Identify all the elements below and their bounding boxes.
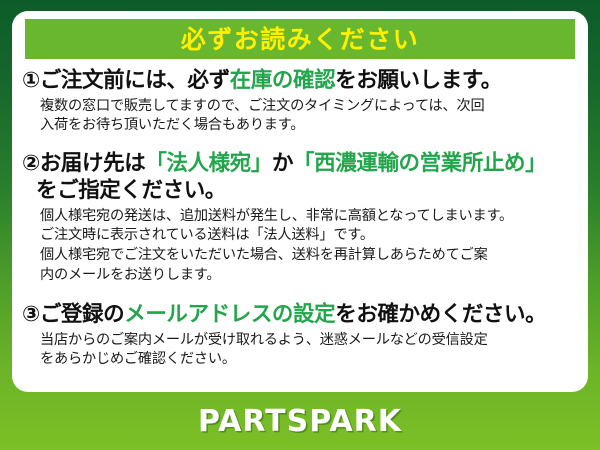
notice-item-2-body: 個人様宅宛の発送は、追加送料が発生し、非常に高額となってしまいます。 ご注文時に… <box>22 207 580 285</box>
notice-item-3-body-line-1: 当店からのご案内メールが受け取れるよう、迷惑メールなどの受信設定 <box>40 331 580 351</box>
notice-item-3-body-line-2: をあらかじめご確認ください。 <box>40 350 580 370</box>
notice-item-2-heading-part-1: お届け先は <box>40 151 146 176</box>
notice-item-3: ③ご登録のメールアドレスの設定をお確かめください。 当店からのご案内メールが受け… <box>22 301 580 370</box>
notice-header-bar: 必ずお読みください <box>25 19 575 59</box>
notice-item-2-marker: ② <box>22 151 40 176</box>
brand-logo-text: PARTSPARK <box>198 404 402 439</box>
notice-card: 必ずお読みください ①ご注文前には、必ず在庫の確認をお願いします。 複数の窓口で… <box>12 11 588 392</box>
notice-item-1-body-line-2: 入荷をお待ち頂いただく場合もあります。 <box>40 116 580 136</box>
notice-item-2-body-line-4: 内のメールをお送りします。 <box>40 266 580 286</box>
notice-item-2-body-line-2: ご注文時に表示されている送料は「法人送料」です。 <box>40 226 580 246</box>
notice-item-1-body: 複数の窓口で販売してますので、ご注文のタイミングによっては、次回 入荷をお待ち頂… <box>22 97 580 136</box>
notice-item-2-heading-highlight-1: 「法人様宛」 <box>145 151 272 176</box>
notice-title: 必ずお読みください <box>181 27 420 52</box>
notice-item-1-heading-part-1: ご注文前には、必ず <box>40 68 230 93</box>
notice-item-3-body: 当店からのご案内メールが受け取れるよう、迷惑メールなどの受信設定 をあらかじめご… <box>22 331 580 370</box>
notice-item-1-heading-highlight: 在庫の確認 <box>230 68 336 93</box>
notice-item-2: ②お届け先は「法人様宛」か「西濃運輸の営業所止め」 をご指定ください。 個人様宅… <box>22 150 580 285</box>
notice-item-1-marker: ① <box>22 68 40 93</box>
notice-item-2-heading: ②お届け先は「法人様宛」か「西濃運輸の営業所止め」 <box>22 150 580 178</box>
notice-item-3-heading-highlight: メールアドレスの設定 <box>124 302 335 327</box>
notice-item-2-heading-highlight-2: 「西濃運輸の営業所止め」 <box>293 151 546 176</box>
notice-item-2-body-line-3: 個人様宅宛でご注文をいただいた場合、送料を再計算しあらためてご案 <box>40 246 580 266</box>
notice-item-1: ①ご注文前には、必ず在庫の確認をお願いします。 複数の窓口で販売してますので、ご… <box>22 67 580 136</box>
notice-item-2-heading-line-2: をご指定ください。 <box>22 177 580 205</box>
notice-item-3-heading-part-3: をお確かめください。 <box>335 302 546 327</box>
notice-footer: PARTSPARK <box>0 392 600 450</box>
notice-items-list: ①ご注文前には、必ず在庫の確認をお願いします。 複数の窓口で販売してますので、ご… <box>22 67 580 371</box>
notice-banner: 必ずお読みください ①ご注文前には、必ず在庫の確認をお願いします。 複数の窓口で… <box>0 0 600 450</box>
notice-item-3-marker: ③ <box>22 302 40 327</box>
notice-item-1-heading-part-3: をお願いします。 <box>335 68 502 93</box>
notice-item-1-heading: ①ご注文前には、必ず在庫の確認をお願いします。 <box>22 67 580 95</box>
notice-item-2-body-line-1: 個人様宅宛の発送は、追加送料が発生し、非常に高額となってしまいます。 <box>40 207 580 227</box>
notice-item-1-body-line-1: 複数の窓口で販売してますので、ご注文のタイミングによっては、次回 <box>40 97 580 117</box>
notice-item-3-heading: ③ご登録のメールアドレスの設定をお確かめください。 <box>22 301 580 329</box>
notice-item-3-heading-part-1: ご登録の <box>40 302 124 327</box>
notice-item-2-heading-part-3: か <box>272 151 293 176</box>
